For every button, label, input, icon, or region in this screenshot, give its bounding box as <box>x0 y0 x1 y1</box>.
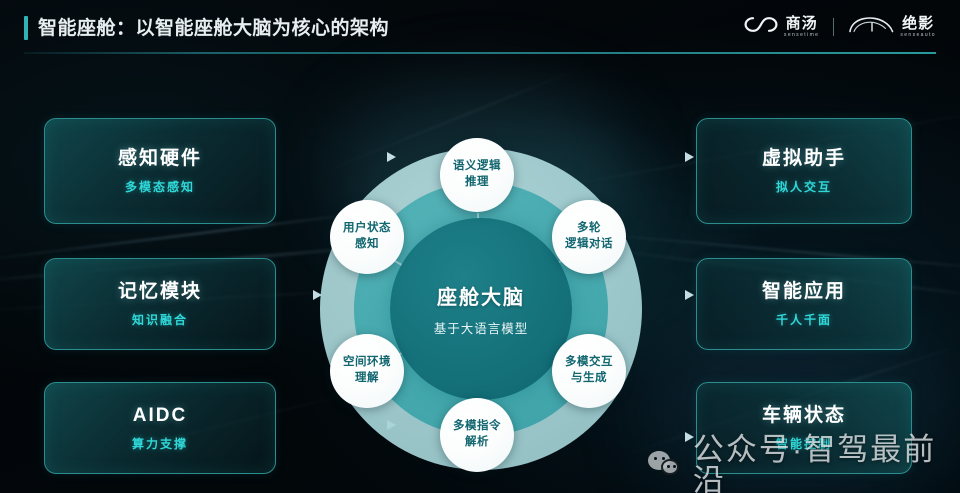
senseauto-wordmark: 绝影 SenseAuto <box>900 16 936 38</box>
bubble-multimodal-interaction[interactable]: 多模交互 与生成 <box>552 334 626 408</box>
card-subtitle: 智能控制 <box>776 437 832 451</box>
sensetime-wordmark: 商汤 sensetime <box>784 16 819 38</box>
page-title: 智能座舱：以智能座舱大脑为核心的架构 <box>38 13 389 40</box>
sensetime-logo: 商汤 sensetime <box>744 16 819 38</box>
card-virtual-assistant[interactable]: 虚拟助手 拟人交互 <box>696 118 912 224</box>
infinity-icon <box>744 16 778 38</box>
card-subtitle: 拟人交互 <box>776 180 832 194</box>
header-divider <box>24 52 936 54</box>
card-title: 记忆模块 <box>118 281 202 304</box>
bubble-spatial-understanding[interactable]: 空间环境 理解 <box>330 334 404 408</box>
slide-canvas: 智能座舱：以智能座舱大脑为核心的架构 商汤 sensetime <box>0 0 960 493</box>
card-title: AIDC <box>133 405 187 428</box>
bubble-multimodal-command-parsing[interactable]: 多模指令 解析 <box>440 398 514 472</box>
card-subtitle: 千人千面 <box>776 313 832 327</box>
bubble-line-2: 感知 <box>355 237 379 253</box>
card-title: 感知硬件 <box>118 148 202 171</box>
bubble-multi-turn-dialogue[interactable]: 多轮 逻辑对话 <box>552 200 626 274</box>
card-subtitle: 多模态感知 <box>125 180 195 194</box>
card-title: 虚拟助手 <box>762 148 846 171</box>
bubble-user-state-perception[interactable]: 用户状态 感知 <box>330 200 404 274</box>
card-subtitle: 知识融合 <box>132 313 188 327</box>
senseauto-logo: 绝影 SenseAuto <box>848 15 936 40</box>
cockpit-brain-diagram: 座舱大脑 基于大语言模型 语义逻辑 推理 多轮 逻辑对话 多模交互 与生成 多模… <box>298 138 662 488</box>
logo-row: 商汤 sensetime 绝影 SenseAuto <box>744 12 936 42</box>
car-silhouette-icon <box>848 15 894 40</box>
title-accent-bar <box>24 16 28 40</box>
slide-header: 智能座舱：以智能座舱大脑为核心的架构 商汤 sensetime <box>0 0 960 56</box>
bubble-line-2: 推理 <box>465 175 489 191</box>
bubble-line-1: 多轮 <box>577 221 601 237</box>
card-title: 智能应用 <box>762 281 846 304</box>
bubble-line-1: 多模交互 <box>565 355 613 371</box>
card-vehicle-status[interactable]: 车辆状态 智能控制 <box>696 382 912 474</box>
card-aidc[interactable]: AIDC 算力支撑 <box>44 382 276 474</box>
bubble-line-1: 多模指令 <box>453 419 501 435</box>
core-subtitle: 基于大语言模型 <box>434 318 529 337</box>
bubble-line-2: 理解 <box>355 371 379 387</box>
logo-divider <box>833 18 834 36</box>
core-circle: 座舱大脑 基于大语言模型 <box>390 218 572 400</box>
card-smart-application[interactable]: 智能应用 千人千面 <box>696 258 912 350</box>
bubble-line-1: 空间环境 <box>343 355 391 371</box>
card-memory-module[interactable]: 记忆模块 知识融合 <box>44 258 276 350</box>
bubble-semantic-reasoning[interactable]: 语义逻辑 推理 <box>440 138 514 212</box>
bubble-line-2: 逻辑对话 <box>565 237 613 253</box>
bubble-line-2: 与生成 <box>571 371 607 387</box>
bubble-line-1: 用户状态 <box>343 221 391 237</box>
card-perception-hardware[interactable]: 感知硬件 多模态感知 <box>44 118 276 224</box>
bubble-line-1: 语义逻辑 <box>453 159 501 175</box>
card-subtitle: 算力支撑 <box>132 437 188 451</box>
core-title: 座舱大脑 <box>437 281 525 310</box>
card-title: 车辆状态 <box>762 405 846 428</box>
bubble-line-2: 解析 <box>465 435 489 451</box>
